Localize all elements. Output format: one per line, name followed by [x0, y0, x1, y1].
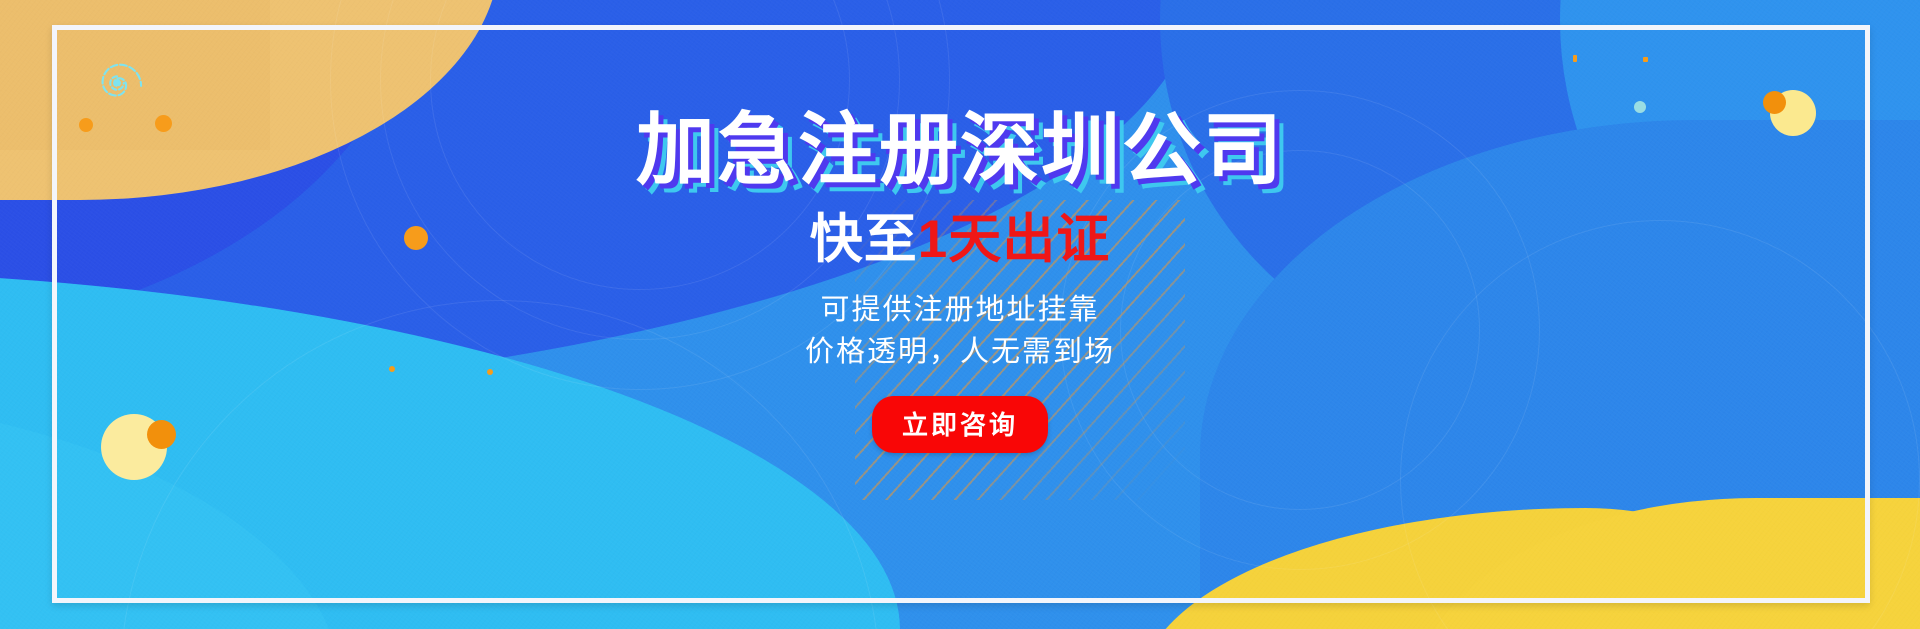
description-line-2: 价格透明，人无需到场: [805, 331, 1115, 373]
promotional-banner: 加急注册深圳公司 快至1天出证 可提供注册地址挂靠 价格透明，人无需到场 立即咨…: [0, 0, 1920, 629]
description: 可提供注册地址挂靠 价格透明，人无需到场: [805, 289, 1115, 374]
consult-now-button[interactable]: 立即咨询: [872, 396, 1048, 453]
banner-content: 加急注册深圳公司 快至1天出证 可提供注册地址挂靠 价格透明，人无需到场 立即咨…: [0, 0, 1920, 629]
slogan-highlight: 1天出证: [918, 210, 1110, 269]
page-title: 加急注册深圳公司: [636, 110, 1284, 189]
slogan: 快至1天出证: [810, 213, 1110, 266]
slogan-prefix: 快至: [810, 210, 918, 269]
description-line-1: 可提供注册地址挂靠: [805, 289, 1115, 331]
